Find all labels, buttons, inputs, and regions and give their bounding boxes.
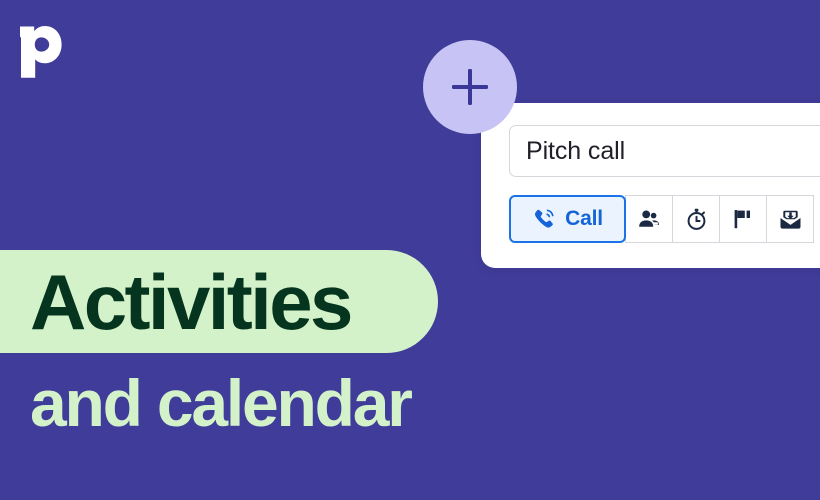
plus-icon — [449, 66, 491, 108]
add-activity-badge[interactable] — [423, 40, 517, 134]
pipedrive-logo-icon — [20, 26, 62, 78]
activity-type-call[interactable]: Call — [509, 195, 626, 243]
inbox-envelope-icon — [778, 207, 803, 232]
activity-type-selector: Call — [509, 195, 820, 243]
activity-type-meeting[interactable] — [625, 195, 673, 243]
activity-type-task[interactable] — [672, 195, 720, 243]
phone-call-icon — [532, 207, 556, 231]
activity-type-deadline[interactable] — [719, 195, 767, 243]
activity-type-call-label: Call — [565, 207, 603, 231]
activity-type-email[interactable] — [766, 195, 814, 243]
activity-card: Pitch call Call — [481, 103, 820, 268]
people-meeting-icon — [637, 207, 661, 231]
promo-banner: Pitch call Call — [0, 0, 820, 500]
activity-subject-input[interactable]: Pitch call — [509, 125, 820, 177]
flag-icon — [731, 207, 755, 231]
headline-line-2: and calendar — [30, 362, 411, 444]
stopwatch-icon — [684, 207, 709, 232]
headline-line-1: Activities — [30, 258, 351, 346]
activity-subject-value: Pitch call — [526, 137, 625, 166]
